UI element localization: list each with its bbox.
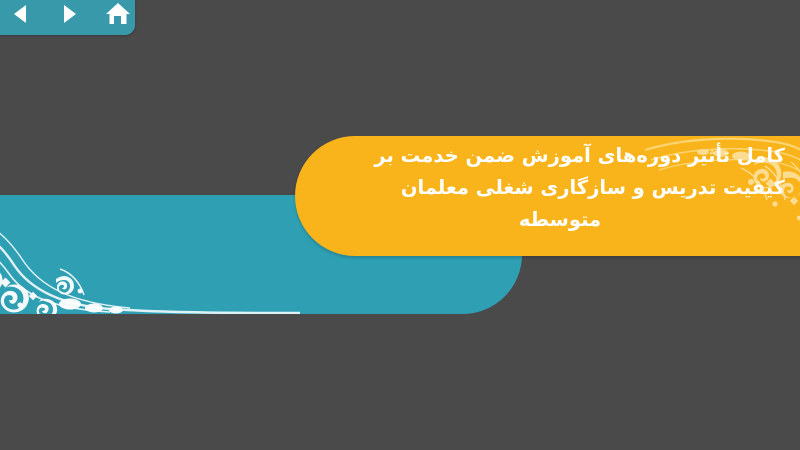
title-line-3: متوسطه	[345, 204, 785, 236]
left-triangle-icon	[10, 3, 32, 25]
title-line-2: کیفیت تدریس و سازگاری شغلی معلمان	[345, 172, 785, 204]
arabesque-corner-icon	[0, 209, 300, 314]
next-button[interactable]	[52, 0, 86, 29]
previous-button[interactable]	[4, 0, 38, 29]
navigation-toolbar	[0, 0, 135, 35]
home-button[interactable]	[101, 0, 135, 29]
home-icon	[105, 2, 131, 26]
page-title: کامل تأثیر دوره‌های آموزش ضمن خدمت بر کی…	[345, 140, 785, 236]
title-banner: کامل تأثیر دوره‌های آموزش ضمن خدمت بر کی…	[295, 136, 800, 256]
right-triangle-icon	[58, 3, 80, 25]
slide-canvas: کامل تأثیر دوره‌های آموزش ضمن خدمت بر کی…	[0, 0, 800, 450]
title-line-1: کامل تأثیر دوره‌های آموزش ضمن خدمت بر	[345, 140, 785, 172]
